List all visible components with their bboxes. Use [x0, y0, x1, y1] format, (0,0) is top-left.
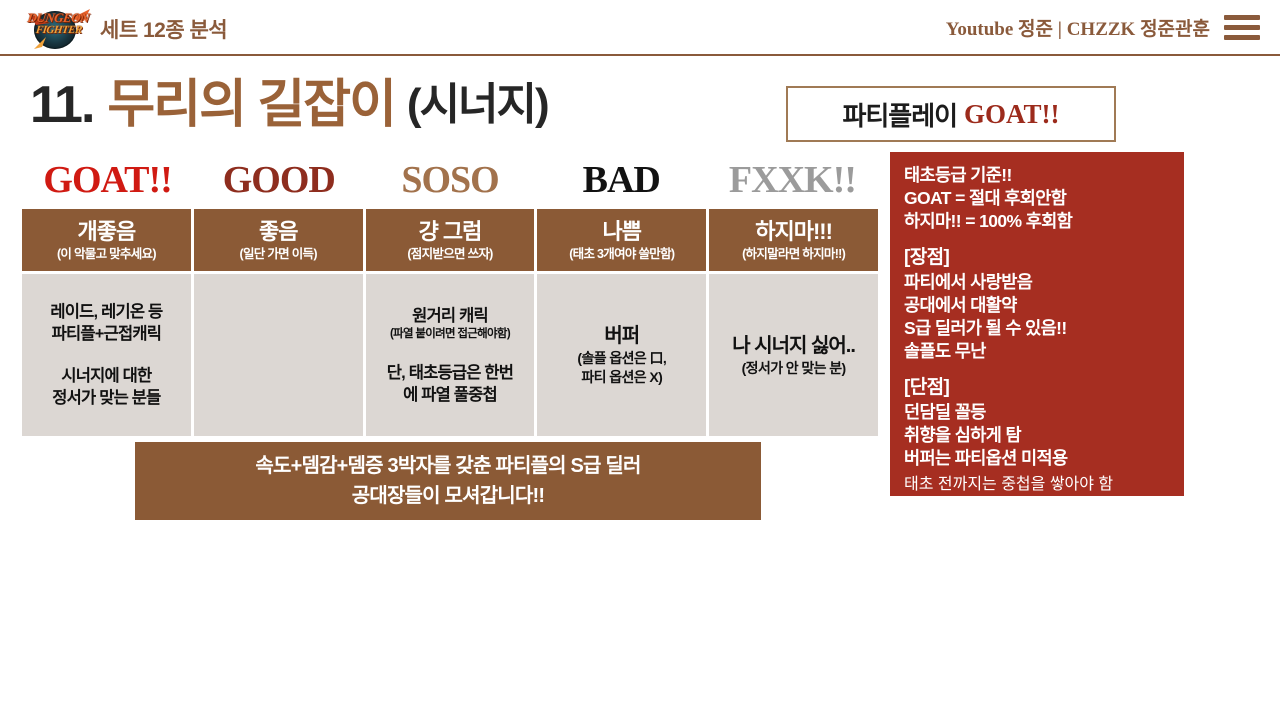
tier-body-line-3-0: 버퍼 [604, 323, 639, 349]
logo-line1: DUNGEON [27, 10, 91, 25]
tier-body-line-0-1: 파티플+근접캐릭 [52, 323, 162, 345]
slide-title: 11. 무리의 길잡이 (시너지) [30, 74, 548, 136]
pros-cons-line-11: 던담딜 꼴등 [904, 401, 1184, 424]
header-title: 세트 12종 분석 [100, 14, 227, 44]
tier-body-cell-3: 버퍼(솔플 옵션은 口,파티 옵션은 X) [537, 274, 706, 436]
logo-line2: FIGHTER [35, 24, 97, 36]
dungeon-fighter-logo: DUNGEON FIGHTER [20, 3, 98, 53]
tier-header-cell-1: 좋음(일단 가면 이득) [194, 209, 363, 271]
tier-body-line-2-4: 에 파열 풀중첩 [403, 384, 497, 406]
pros-cons-line-6: 공대에서 대활약 [904, 294, 1184, 317]
title-number: 11. [30, 76, 93, 134]
tier-body-line-4-1: (정서가 안 맞는 분) [742, 359, 846, 378]
pros-cons-line-9 [904, 363, 1184, 375]
tier-table-body: 레이드, 레기온 등파티플+근접캐릭시너지에 대한정서가 맞는 분들원거리 캐릭… [22, 274, 878, 436]
rating-label-2: SOSO [364, 155, 535, 207]
tier-body-cell-4: 나 시너지 싫어..(정서가 안 맞는 분) [709, 274, 878, 436]
hamburger-bar-1 [1224, 15, 1260, 20]
rating-scale: GOAT!!GOODSOSOBADFXXK!! [22, 155, 878, 207]
tier-header-sub-1: (일단 가면 이득) [240, 246, 317, 262]
title-main: 무리의 길잡이 [107, 76, 395, 134]
tier-header-cell-3: 나쁨(태초 3개여야 쓸만함) [537, 209, 706, 271]
tier-header-main-3: 나쁨 [603, 219, 641, 245]
pros-cons-line-13: 버퍼는 파티옵션 미적용 [904, 447, 1184, 470]
tier-header-sub-3: (태초 3개여야 쓸만함) [569, 246, 674, 262]
summary-banner-line-1: 속도+뎀감+뎀증 3박자를 갖춘 파티플의 S급 딜러 [255, 451, 640, 481]
tier-header-sub-4: (하지말라면 하지마!!) [742, 246, 845, 262]
slide-root: DUNGEON FIGHTER 세트 12종 분석 Youtube 정준 | C… [0, 0, 1280, 720]
pros-cons-line-3 [904, 233, 1184, 245]
pros-cons-line-2: 하지마!! = 100% 후회함 [904, 210, 1184, 233]
rating-label-1: GOOD [193, 155, 364, 207]
tier-body-line-2-3: 단, 태초등급은 한번 [387, 362, 513, 384]
rating-label-0: GOAT!! [22, 155, 193, 207]
tier-body-line-0-3: 시너지에 대한 [61, 365, 151, 387]
rating-label-3: BAD [536, 155, 707, 207]
pros-cons-line-10: [단점] [904, 375, 1184, 401]
verdict-badge-en: GOAT!! [964, 99, 1060, 130]
pros-cons-line-5: 파티에서 사랑받음 [904, 271, 1184, 294]
tier-header-main-2: 걍 그럼 [419, 219, 482, 245]
tier-body-line-4-0: 나 시너지 싫어.. [732, 333, 855, 359]
tier-header-main-0: 개좋음 [78, 219, 136, 245]
page-header: DUNGEON FIGHTER 세트 12종 분석 Youtube 정준 | C… [0, 0, 1280, 56]
verdict-badge-ko: 파티플레이 [842, 96, 957, 133]
pros-cons-line-4: [장점] [904, 245, 1184, 271]
hamburger-menu-icon[interactable] [1224, 15, 1260, 41]
tier-body-line-0-0: 레이드, 레기온 등 [50, 301, 162, 323]
tier-header-cell-4: 하지마!!!(하지말라면 하지마!!) [709, 209, 878, 271]
hamburger-bar-2 [1224, 25, 1260, 30]
tier-body-line-3-1: (솔플 옵션은 口, [577, 349, 666, 368]
hamburger-bar-3 [1224, 35, 1260, 40]
tier-header-sub-2: (점지받으면 쓰자) [407, 246, 492, 262]
tier-header-cell-2: 걍 그럼(점지받으면 쓰자) [366, 209, 535, 271]
pros-cons-line-14: 태초 전까지는 중첩을 쌓아야 함 [904, 470, 1184, 494]
pros-cons-line-7: S급 딜러가 될 수 있음!! [904, 317, 1184, 340]
tier-header-cell-0: 개좋음(이 악물고 맞추세요) [22, 209, 191, 271]
tier-body-cell-2: 원거리 캐릭(파열 붙이려면 접근해야함)단, 태초등급은 한번에 파열 풀중첩 [366, 274, 535, 436]
tier-body-line-2-1: (파열 붙이려면 접근해야함) [390, 327, 510, 342]
tier-body-cell-1 [194, 274, 363, 436]
pros-cons-line-8: 솔플도 무난 [904, 340, 1184, 363]
pros-cons-line-1: GOAT = 절대 후회안함 [904, 187, 1184, 210]
channel-info: Youtube 정준 | CHZZK 정준관훈 [946, 14, 1210, 41]
tier-header-sub-0: (이 악물고 맞추세요) [57, 246, 156, 262]
title-sub: (시너지) [407, 76, 548, 134]
logo-wordmark: DUNGEON FIGHTER [24, 12, 99, 46]
tier-header-main-4: 하지마!!! [755, 219, 832, 245]
summary-banner: 속도+뎀감+뎀증 3박자를 갖춘 파티플의 S급 딜러 공대장들이 모셔갑니다!… [135, 442, 761, 520]
tier-body-cell-0: 레이드, 레기온 등파티플+근접캐릭시너지에 대한정서가 맞는 분들 [22, 274, 191, 436]
tier-body-line-0-4: 정서가 맞는 분들 [52, 387, 160, 409]
pros-cons-panel: 태초등급 기준!!GOAT = 절대 후회안함하지마!! = 100% 후회함[… [890, 152, 1184, 496]
rating-label-4: FXXK!! [707, 155, 878, 207]
summary-banner-line-2: 공대장들이 모셔갑니다!! [352, 481, 544, 511]
verdict-badge: 파티플레이 GOAT!! [786, 86, 1116, 142]
tier-table: 개좋음(이 악물고 맞추세요)좋음(일단 가면 이득)걍 그럼(점지받으면 쓰자… [22, 209, 878, 436]
tier-header-main-1: 좋음 [259, 219, 297, 245]
pros-cons-line-12: 취향을 심하게 탐 [904, 424, 1184, 447]
pros-cons-line-0: 태초등급 기준!! [904, 164, 1184, 187]
tier-table-header: 개좋음(이 악물고 맞추세요)좋음(일단 가면 이득)걍 그럼(점지받으면 쓰자… [22, 209, 878, 271]
tier-body-line-2-0: 원거리 캐릭 [412, 305, 488, 327]
tier-body-line-3-2: 파티 옵션은 X) [581, 368, 662, 387]
